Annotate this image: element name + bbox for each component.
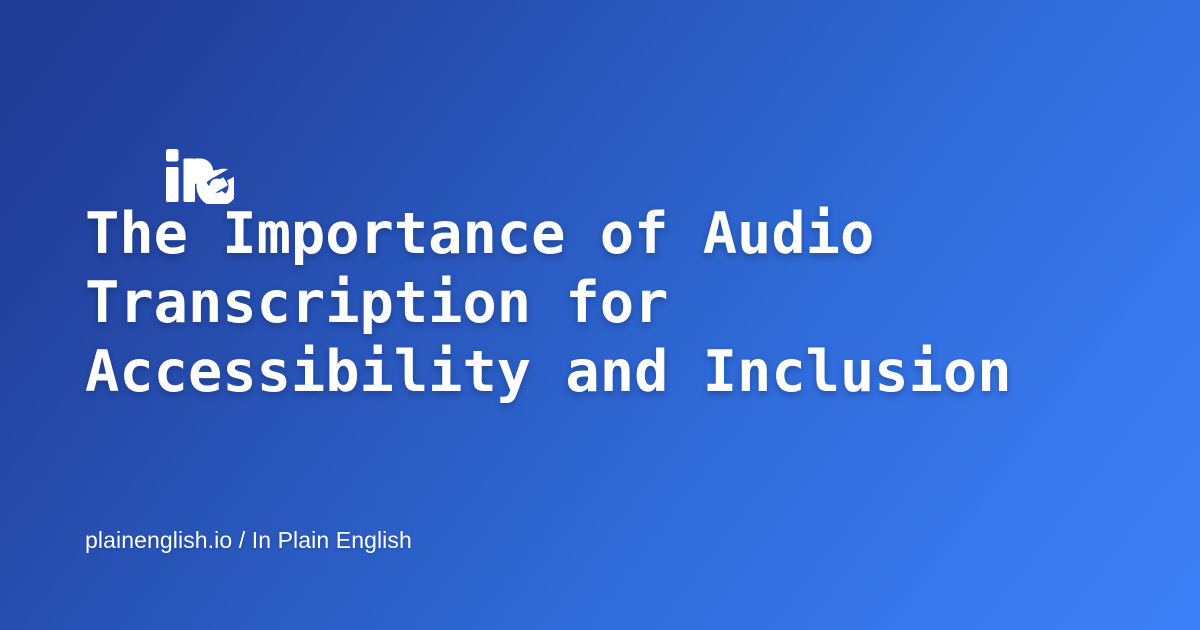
brand-logo-link[interactable]	[82, 74, 152, 130]
ipe-logo-icon	[164, 148, 234, 204]
footer-attribution: plainenglish.io / In Plain English	[85, 525, 412, 555]
page-title: The Importance of Audio Transcription fo…	[85, 200, 1115, 407]
title-block: The Importance of Audio Transcription fo…	[85, 200, 1115, 407]
share-card: The Importance of Audio Transcription fo…	[0, 0, 1200, 630]
footer-text: plainenglish.io / In Plain English	[85, 525, 412, 555]
